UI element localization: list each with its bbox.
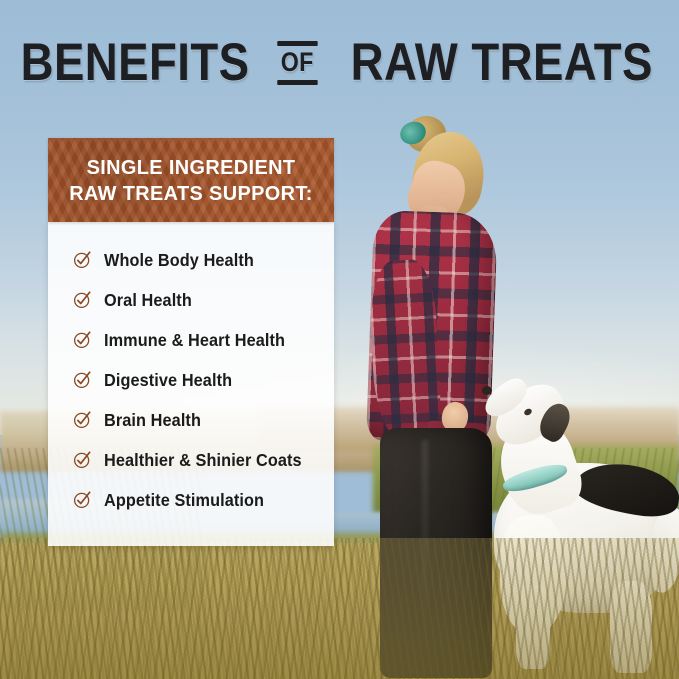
- dog-nose: [482, 386, 492, 395]
- benefits-card: SINGLE INGREDIENT RAW TREATS SUPPORT: Wh…: [48, 138, 334, 546]
- title-part-1: BENEFITS: [21, 36, 250, 89]
- check-circle-icon: [73, 250, 92, 269]
- infographic-poster: BENEFITS OF RAW TREATS SINGLE INGREDIENT…: [0, 0, 679, 679]
- card-header: SINGLE INGREDIENT RAW TREATS SUPPORT:: [48, 138, 334, 222]
- check-circle-icon: [73, 290, 92, 309]
- title-part-of: OF: [279, 42, 316, 84]
- list-item: Brain Health: [48, 400, 334, 440]
- list-item-label: Digestive Health: [104, 370, 232, 391]
- check-circle-icon: [73, 450, 92, 469]
- card-body: Whole Body Health Oral Health: [48, 222, 334, 546]
- list-item-label: Oral Health: [104, 290, 192, 311]
- card-header-line-2: RAW TREATS SUPPORT:: [64, 181, 318, 207]
- list-item: Digestive Health: [48, 360, 334, 400]
- check-circle-icon: [73, 330, 92, 349]
- grass-front-overlay: [0, 538, 679, 679]
- list-item-label: Appetite Stimulation: [104, 490, 264, 511]
- check-circle-icon: [73, 410, 92, 429]
- list-item: Appetite Stimulation: [48, 480, 334, 520]
- title-part-2: RAW TREATS: [350, 36, 652, 89]
- check-circle-icon: [73, 490, 92, 509]
- list-item-label: Brain Health: [104, 410, 201, 431]
- card-header-line-1: SINGLE INGREDIENT: [64, 155, 318, 181]
- check-circle-icon: [73, 370, 92, 389]
- list-item: Oral Health: [48, 280, 334, 320]
- list-item-label: Whole Body Health: [104, 250, 254, 271]
- list-item: Immune & Heart Health: [48, 320, 334, 360]
- page-title: BENEFITS OF RAW TREATS: [0, 36, 679, 89]
- list-item: Healthier & Shinier Coats: [48, 440, 334, 480]
- list-item: Whole Body Health: [48, 240, 334, 280]
- list-item-label: Immune & Heart Health: [104, 330, 285, 351]
- list-item-label: Healthier & Shinier Coats: [104, 450, 302, 471]
